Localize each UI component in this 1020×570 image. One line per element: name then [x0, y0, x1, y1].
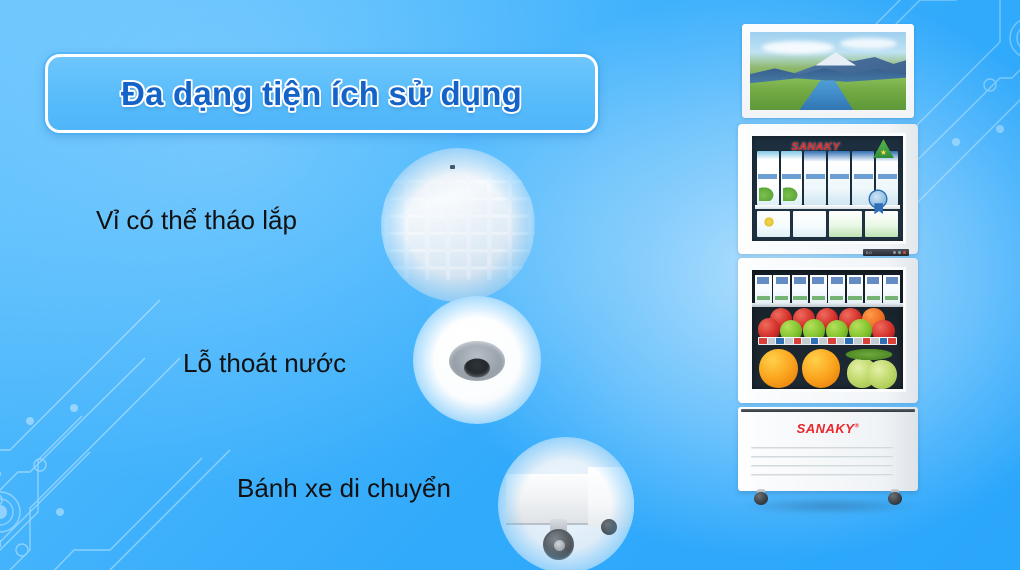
green-star-badge: ★	[873, 139, 894, 158]
circuit-pattern-bottom-left	[0, 250, 270, 570]
feature-label-caster-wheels: Bánh xe di chuyển	[237, 473, 451, 504]
lower-shelf-produce	[757, 346, 899, 385]
drain-opening	[464, 358, 490, 377]
cabinet-base-side	[588, 467, 634, 527]
base-vents	[751, 447, 893, 483]
base-trim	[741, 409, 915, 412]
price-tag-strip	[758, 337, 897, 345]
brand-trademark-mark: ®	[854, 424, 859, 430]
lower-shelf-apples	[755, 307, 900, 339]
cabinet-base: SANAKY®	[738, 407, 918, 491]
drain-hole-icon	[413, 296, 541, 424]
star-icon: ★	[880, 149, 887, 157]
upper-cabinet: SANAKY ★ 0.0	[738, 124, 918, 254]
product-refrigerator: SANAKY ★ 0.0	[738, 24, 918, 504]
lightbox-landscape-image	[750, 32, 906, 110]
upper-glass-door[interactable]: SANAKY ★	[749, 133, 906, 244]
panel-display: 0.0	[866, 250, 872, 255]
caster-tire-rear	[601, 519, 617, 535]
title-banner: Đa dạng tiện ích sử dụng	[45, 54, 598, 133]
page-title: Đa dạng tiện ích sử dụng	[121, 75, 522, 113]
feature-label-drain-hole: Lỗ thoát nước	[183, 348, 346, 379]
upper-shelf-bottom	[757, 211, 899, 237]
wire-rack-icon	[381, 148, 535, 302]
brand-logo-text: SANAKY	[797, 421, 855, 436]
feature-label-removable-rack: Vỉ có thể tháo lắp	[96, 205, 297, 236]
lower-cabinet	[738, 258, 918, 403]
top-lightbox	[742, 24, 914, 118]
control-panel[interactable]: 0.0	[863, 249, 909, 256]
lower-shelf-cartons	[755, 275, 900, 304]
product-shadow	[742, 498, 918, 514]
rack-shading	[381, 148, 535, 302]
brand-logo-door: SANAKY	[791, 141, 840, 153]
lower-glass-door[interactable]	[749, 267, 906, 392]
promo-banner-stage: Đa dạng tiện ích sử dụng Vỉ có thể tháo …	[0, 0, 1020, 570]
rack-screw-dot	[450, 165, 455, 169]
brand-logo-base: SANAKY®	[797, 421, 860, 436]
caster-wheel-icon	[498, 437, 634, 570]
